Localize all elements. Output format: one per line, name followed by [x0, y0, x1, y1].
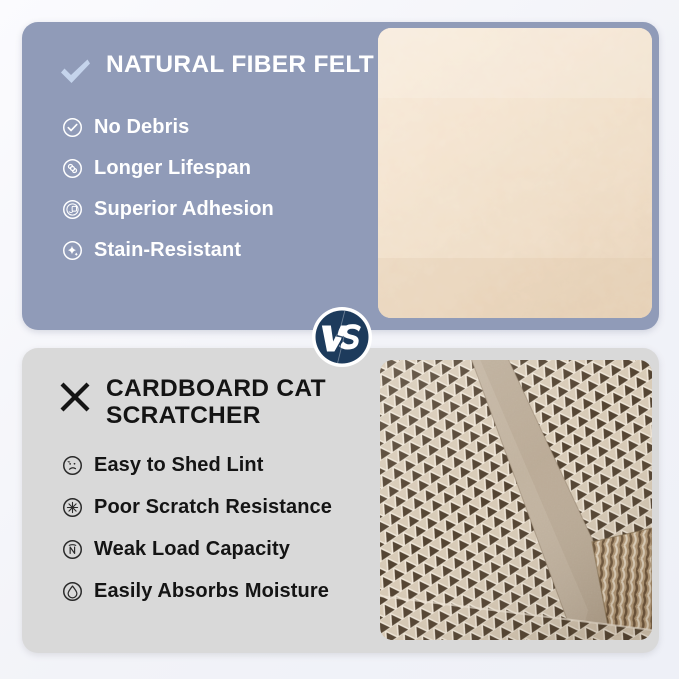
list-item-label: No Debris	[94, 116, 189, 139]
cross-icon	[58, 380, 92, 414]
list-item: Easily Absorbs Moisture	[62, 580, 382, 603]
list-item: Easy to Shed Lint	[62, 454, 382, 477]
weight-circle-icon	[62, 539, 83, 560]
list-item: Stain-Resistant	[62, 239, 382, 262]
list-item-label: Weak Load Capacity	[94, 538, 290, 561]
natural-fiber-felt-texture-photo	[378, 28, 652, 318]
bad-heading-row: CARDBOARD CAT SCRATCHER	[52, 376, 382, 430]
comparison-panel-bad: CARDBOARD CAT SCRATCHER Easy to Shed Lin…	[22, 348, 659, 653]
list-item: Superior Adhesion	[62, 198, 382, 221]
list-item: No Debris	[62, 116, 382, 139]
infographic-canvas: NATURAL FIBER FELT No Debris	[0, 0, 679, 679]
list-item-label: Poor Scratch Resistance	[94, 496, 332, 519]
list-item-label: Stain-Resistant	[94, 239, 241, 262]
scratch-circle-icon	[62, 497, 83, 518]
good-feature-list: No Debris Longer Lifespan	[52, 116, 382, 262]
corrugated-cardboard-texture-photo	[380, 360, 652, 640]
good-title: NATURAL FIBER FELT	[106, 52, 374, 79]
list-item-label: Longer Lifespan	[94, 157, 251, 180]
list-item-label: Easy to Shed Lint	[94, 454, 264, 477]
bad-feature-list: Easy to Shed Lint	[52, 454, 382, 603]
bad-content-column: CARDBOARD CAT SCRATCHER Easy to Shed Lin…	[52, 348, 382, 653]
list-item-label: Superior Adhesion	[94, 198, 274, 221]
good-content-column: NATURAL FIBER FELT No Debris	[52, 22, 382, 330]
infinity-circle-icon	[62, 158, 83, 179]
check-circle-icon	[62, 117, 83, 138]
good-heading-row: NATURAL FIBER FELT	[52, 52, 382, 90]
sparkle-circle-icon	[62, 240, 83, 261]
comparison-panel-good: NATURAL FIBER FELT No Debris	[22, 22, 659, 330]
adhesion-circle-icon	[62, 199, 83, 220]
list-item-label: Easily Absorbs Moisture	[94, 580, 329, 603]
checkmark-icon	[58, 56, 92, 90]
list-item: Poor Scratch Resistance	[62, 496, 382, 519]
bad-title: CARDBOARD CAT SCRATCHER	[106, 376, 382, 430]
list-item: Weak Load Capacity	[62, 538, 382, 561]
list-item: Longer Lifespan	[62, 157, 382, 180]
vs-badge	[310, 305, 374, 369]
droplet-circle-icon	[62, 581, 83, 602]
lint-circle-icon	[62, 455, 83, 476]
